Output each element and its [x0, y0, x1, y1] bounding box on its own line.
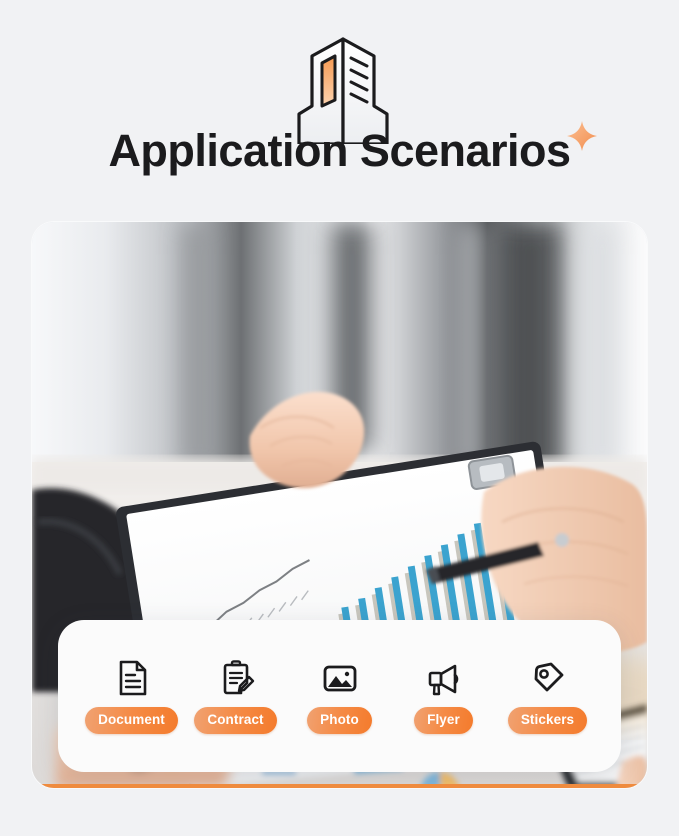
category-chip-row: Document Contract — [58, 620, 621, 772]
image-icon — [320, 658, 360, 698]
megaphone-icon — [424, 658, 464, 698]
category-item-stickers[interactable]: Stickers — [496, 658, 600, 734]
category-label-document: Document — [85, 707, 178, 734]
category-label-flyer: Flyer — [414, 707, 473, 734]
category-label-stickers: Stickers — [508, 707, 587, 734]
sparkle-icon — [565, 119, 599, 153]
category-card: Document Contract — [58, 620, 621, 772]
category-item-document[interactable]: Document — [80, 658, 184, 734]
tag-icon — [528, 658, 568, 698]
category-item-contract[interactable]: Contract — [184, 658, 288, 734]
scenario-photo-card: Document Contract — [32, 222, 647, 788]
category-item-flyer[interactable]: Flyer — [392, 658, 496, 734]
clipboard-pencil-icon — [216, 658, 256, 698]
page-title: Application Scenarios — [108, 128, 570, 173]
category-label-contract: Contract — [194, 707, 276, 734]
category-label-photo: Photo — [307, 707, 372, 734]
document-icon — [112, 658, 152, 698]
category-item-photo[interactable]: Photo — [288, 658, 392, 734]
page-header: Application Scenarios — [0, 0, 679, 210]
